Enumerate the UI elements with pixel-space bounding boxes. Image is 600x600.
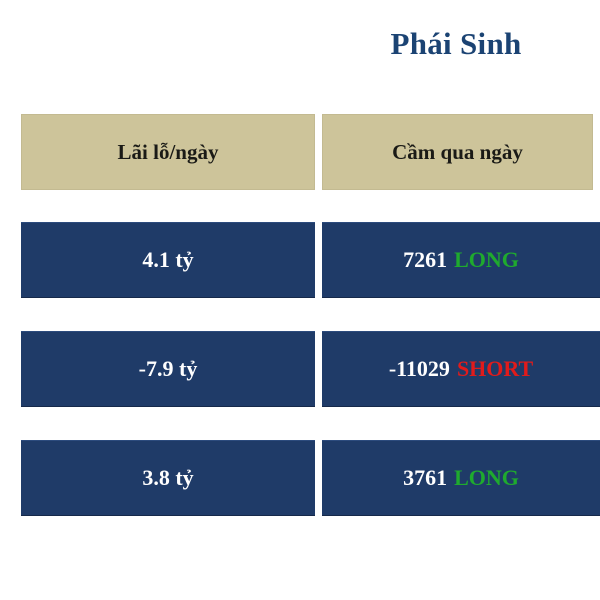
column-header-overnight: Cầm qua ngày [322,114,593,190]
position-value: 7261 [403,247,447,273]
cell-pnl: 4.1 tỷ [21,222,315,298]
table-row: -7.9 tỷ -11029 SHORT [0,331,600,407]
left-margin-spacer [0,222,21,298]
position-value: 3761 [403,465,447,491]
position-side-badge: LONG [454,247,519,273]
table-header-row: Lãi lỗ/ngày Cầm qua ngày [0,114,600,190]
column-gap [315,440,322,516]
column-gap [315,331,322,407]
column-gap [315,114,322,190]
cell-pnl: -7.9 tỷ [21,331,315,407]
cell-overnight: 3761 LONG [322,440,600,516]
cell-overnight: 7261 LONG [322,222,600,298]
pnl-value: -7.9 tỷ [139,356,198,382]
pnl-value: 4.1 tỷ [142,247,193,273]
pnl-value: 3.8 tỷ [142,465,193,491]
left-margin-spacer [0,114,21,190]
position-side-badge: LONG [454,465,519,491]
cell-overnight: -11029 SHORT [322,331,600,407]
table-row: 3.8 tỷ 3761 LONG [0,440,600,516]
left-margin-spacer [0,440,21,516]
position-side-badge: SHORT [457,356,533,382]
column-header-pnl: Lãi lỗ/ngày [21,114,315,190]
page-root: Phái Sinh Lãi lỗ/ngày Cầm qua ngày 4.1 t… [0,0,600,600]
derivatives-table: Lãi lỗ/ngày Cầm qua ngày 4.1 tỷ 7261 LON… [0,114,600,516]
page-title: Phái Sinh [320,26,592,62]
left-margin-spacer [0,331,21,407]
position-value: -11029 [389,356,450,382]
cell-pnl: 3.8 tỷ [21,440,315,516]
column-gap [315,222,322,298]
table-row: 4.1 tỷ 7261 LONG [0,222,600,298]
